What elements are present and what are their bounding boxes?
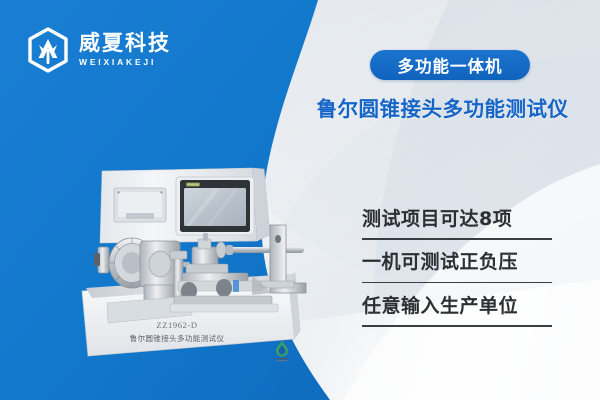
feature-item: 一机可测试正负压	[362, 240, 558, 282]
feature-item: 任意输入生产单位	[362, 283, 558, 325]
feature-list: 测试项目可达8项 一机可测试正负压 任意输入生产单位	[362, 196, 558, 327]
page-title: 鲁尔圆锥接头多功能测试仪	[300, 92, 585, 122]
brand-name-en: WEIXIAKEJI	[79, 58, 171, 67]
certification-mark-icon	[272, 340, 292, 362]
headline-badge-label: 多功能一体机	[398, 53, 503, 77]
feature-label: 任意输入生产单位	[362, 291, 518, 318]
headline-badge: 多功能一体机	[370, 50, 530, 80]
page-title-text: 鲁尔圆锥接头多功能测试仪	[317, 97, 569, 121]
feature-divider	[362, 325, 552, 327]
feature-label: 一机可测试正负压	[362, 247, 518, 274]
product-name: 鲁尔圆锥接头多功能测试仪	[74, 333, 280, 344]
feature-label: 测试项目可达8项	[362, 204, 512, 231]
brand-name-cn: 威夏科技	[79, 33, 171, 54]
promo-banner: 威夏科技 WEIXIAKEJI 多功能一体机 鲁尔圆锥接头多功能测试仪 测试项目…	[0, 0, 600, 400]
product-model: ZZ1962-D	[74, 320, 280, 330]
brand-logo: 威夏科技 WEIXIAKEJI	[26, 27, 171, 73]
hexagon-emblem-icon	[26, 27, 70, 73]
feature-item: 测试项目可达8项	[362, 196, 558, 238]
